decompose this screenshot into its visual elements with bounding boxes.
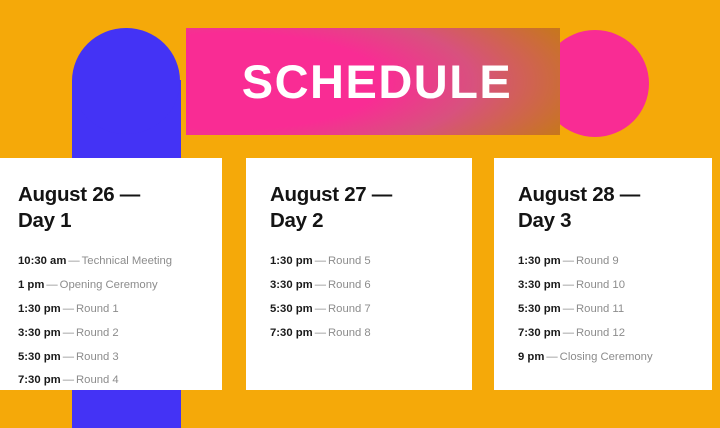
list-item: 3:30 pm—Round 6	[270, 280, 454, 291]
schedule-card-day-1: August 26 — Day 1 10:30 am—Technical Mee…	[0, 158, 222, 390]
gradient-banner-shape: SCHEDULE	[186, 28, 560, 135]
entry-time: 3:30 pm	[518, 279, 561, 291]
schedule-card-day-3: August 28 — Day 3 1:30 pm—Round 9 3:30 p…	[494, 158, 712, 390]
entry-separator: —	[313, 327, 328, 339]
entry-time: 1:30 pm	[18, 303, 61, 315]
blue-circle-shape	[72, 28, 180, 134]
entry-description: Round 3	[76, 351, 119, 363]
card-gap	[472, 158, 494, 390]
list-item: 5:30 pm—Round 3	[18, 352, 204, 363]
entry-time: 1:30 pm	[518, 255, 561, 267]
entry-time: 7:30 pm	[270, 327, 313, 339]
entry-description: Closing Ceremony	[560, 351, 653, 363]
card-title-day-1: August 26 — Day 1	[18, 182, 204, 234]
schedule-list-day-1: 10:30 am—Technical Meeting 1 pm—Opening …	[18, 256, 204, 386]
entry-separator: —	[61, 351, 76, 363]
entry-time: 3:30 pm	[270, 279, 313, 291]
list-item: 1:30 pm—Round 5	[270, 256, 454, 267]
entry-description: Round 10	[576, 279, 625, 291]
list-item: 9 pm—Closing Ceremony	[518, 352, 694, 363]
entry-separator: —	[544, 351, 559, 363]
entry-separator: —	[61, 327, 76, 339]
entry-separator: —	[561, 279, 576, 291]
entry-description: Round 4	[76, 374, 119, 386]
list-item: 7:30 pm—Round 8	[270, 328, 454, 339]
entry-description: Round 11	[576, 303, 624, 315]
entry-separator: —	[561, 303, 576, 315]
entry-description: Round 7	[328, 303, 371, 315]
entry-separator: —	[561, 255, 576, 267]
list-item: 5:30 pm—Round 11	[518, 304, 694, 315]
list-item: 10:30 am—Technical Meeting	[18, 256, 204, 267]
schedule-cards-row: August 26 — Day 1 10:30 am—Technical Mee…	[0, 158, 720, 390]
card-title-day-2: August 27 — Day 2	[270, 182, 454, 234]
list-item: 1:30 pm—Round 1	[18, 304, 204, 315]
card-gap	[222, 158, 246, 390]
entry-time: 7:30 pm	[518, 327, 561, 339]
entry-time: 5:30 pm	[18, 351, 61, 363]
list-item: 7:30 pm—Round 12	[518, 328, 694, 339]
schedule-card-day-2: August 27 — Day 2 1:30 pm—Round 5 3:30 p…	[246, 158, 472, 390]
entry-time: 3:30 pm	[18, 327, 61, 339]
entry-description: Round 8	[328, 327, 371, 339]
entry-separator: —	[66, 255, 81, 267]
entry-description: Round 6	[328, 279, 371, 291]
entry-separator: —	[313, 255, 328, 267]
list-item: 3:30 pm—Round 10	[518, 280, 694, 291]
list-item: 1:30 pm—Round 9	[518, 256, 694, 267]
entry-separator: —	[561, 327, 576, 339]
list-item: 7:30 pm—Round 4	[18, 375, 204, 386]
entry-time: 1:30 pm	[270, 255, 313, 267]
entry-description: Round 1	[76, 303, 119, 315]
entry-time: 1 pm	[18, 279, 44, 291]
list-item: 5:30 pm—Round 7	[270, 304, 454, 315]
entry-description: Round 12	[576, 327, 625, 339]
entry-time: 7:30 pm	[18, 374, 61, 386]
entry-time: 10:30 am	[18, 255, 66, 267]
list-item: 1 pm—Opening Ceremony	[18, 280, 204, 291]
entry-time: 5:30 pm	[518, 303, 561, 315]
entry-time: 9 pm	[518, 351, 544, 363]
entry-description: Opening Ceremony	[60, 279, 158, 291]
entry-description: Round 2	[76, 327, 119, 339]
entry-description: Technical Meeting	[82, 255, 172, 267]
entry-description: Round 9	[576, 255, 619, 267]
page-title: SCHEDULE	[186, 28, 560, 135]
entry-separator: —	[61, 374, 76, 386]
entry-description: Round 5	[328, 255, 371, 267]
entry-separator: —	[61, 303, 76, 315]
schedule-list-day-3: 1:30 pm—Round 9 3:30 pm—Round 10 5:30 pm…	[518, 256, 694, 362]
schedule-poster: SCHEDULE August 26 — Day 1 10:30 am—Tech…	[0, 0, 720, 428]
entry-separator: —	[313, 303, 328, 315]
schedule-list-day-2: 1:30 pm—Round 5 3:30 pm—Round 6 5:30 pm—…	[270, 256, 454, 339]
card-title-day-3: August 28 — Day 3	[518, 182, 694, 234]
entry-separator: —	[44, 279, 59, 291]
entry-separator: —	[313, 279, 328, 291]
list-item: 3:30 pm—Round 2	[18, 328, 204, 339]
entry-time: 5:30 pm	[270, 303, 313, 315]
